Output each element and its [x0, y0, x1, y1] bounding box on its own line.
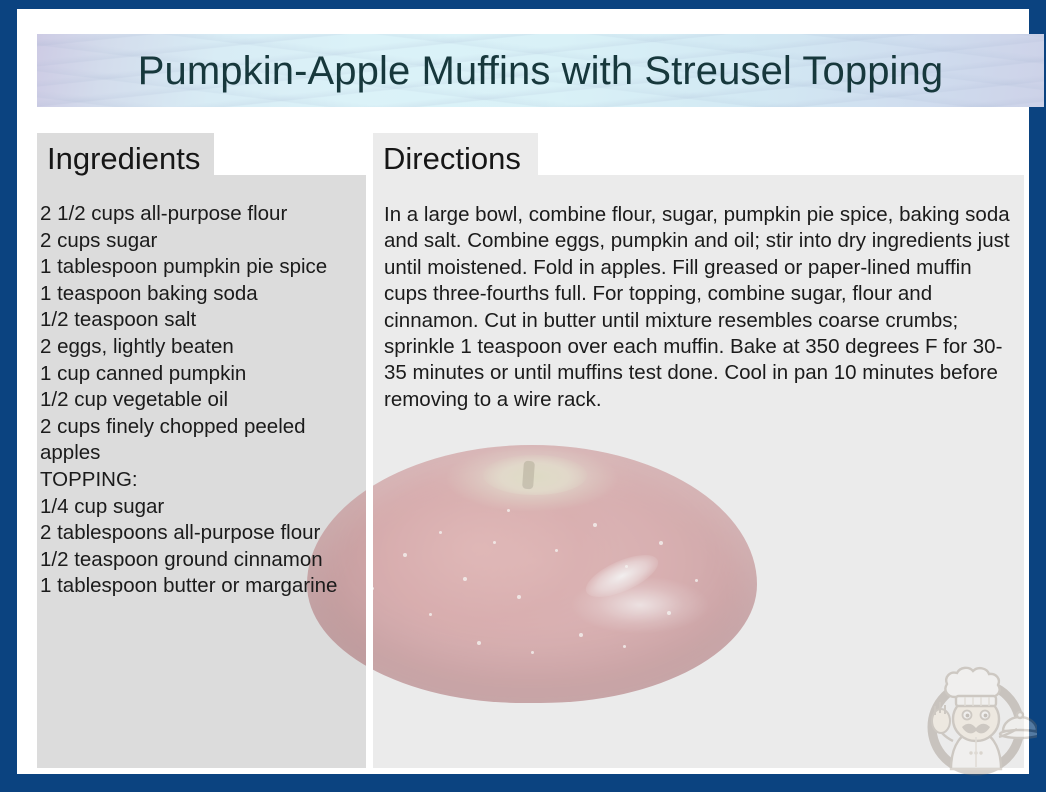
- list-item: 1/2 teaspoon salt: [40, 307, 370, 334]
- page-canvas: Pumpkin-Apple Muffins with Streusel Topp…: [17, 9, 1029, 774]
- directions-heading: Directions: [383, 143, 521, 174]
- recipe-card-page: Pumpkin-Apple Muffins with Streusel Topp…: [0, 0, 1046, 792]
- list-item: 2 cups finely chopped peeled: [40, 414, 370, 441]
- list-item: 1 tablespoon pumpkin pie spice: [40, 254, 370, 281]
- ingredients-heading: Ingredients: [47, 143, 200, 174]
- list-item: 2 1/2 cups all-purpose flour: [40, 201, 370, 228]
- directions-heading-tab: Directions: [373, 133, 538, 177]
- title-banner: Pumpkin-Apple Muffins with Streusel Topp…: [37, 34, 1044, 107]
- ingredients-list: 2 1/2 cups all-purpose flour 2 cups suga…: [40, 201, 370, 600]
- list-item: 2 cups sugar: [40, 228, 370, 255]
- list-item: apples: [40, 440, 370, 467]
- list-item: 1 tablespoon butter or margarine: [40, 573, 370, 600]
- list-item: 1/2 cup vegetable oil: [40, 387, 370, 414]
- page-title: Pumpkin-Apple Muffins with Streusel Topp…: [37, 50, 1044, 92]
- list-item: 2 tablespoons all-purpose flour: [40, 520, 370, 547]
- list-item: 1/4 cup sugar: [40, 494, 370, 521]
- list-item: 1 teaspoon baking soda: [40, 281, 370, 308]
- ingredients-heading-tab: Ingredients: [37, 133, 214, 177]
- list-item: 1/2 teaspoon ground cinnamon: [40, 547, 370, 574]
- list-item: 1 cup canned pumpkin: [40, 361, 370, 388]
- list-item: 2 eggs, lightly beaten: [40, 334, 370, 361]
- directions-text: In a large bowl, combine flour, sugar, p…: [384, 202, 1014, 413]
- list-item: TOPPING:: [40, 467, 370, 494]
